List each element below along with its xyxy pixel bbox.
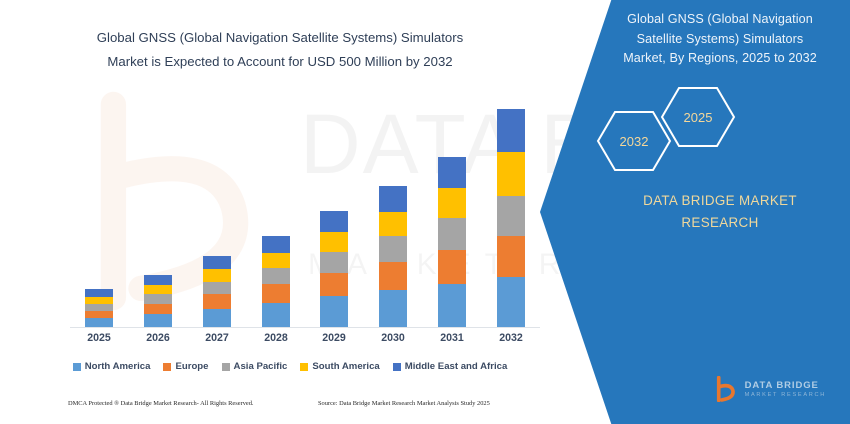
x-axis-label-2026: 2026: [136, 332, 180, 344]
bar-segment-north-america: [85, 318, 113, 327]
bar-segment-south-america: [320, 232, 348, 251]
brand-logo-tagline: MARKET RESEARCH: [745, 392, 826, 398]
legend-label: North America: [85, 361, 151, 372]
bar-segment-middle-east-and-africa: [203, 256, 231, 269]
bar-segment-middle-east-and-africa: [320, 211, 348, 232]
x-axis-label-2028: 2028: [254, 332, 298, 344]
chart-legend: North AmericaEuropeAsia PacificSouth Ame…: [40, 361, 540, 372]
footer: DMCA Protected ® Data Bridge Market Rese…: [0, 400, 600, 416]
bar-segment-asia-pacific: [85, 304, 113, 311]
legend-swatch-icon: [300, 363, 308, 371]
legend-label: South America: [312, 361, 379, 372]
hexagon-year-end: 2025: [660, 86, 736, 148]
bar-segment-north-america: [144, 314, 172, 327]
legend-item-north-america[interactable]: North America: [73, 361, 151, 372]
bar-segment-europe: [320, 273, 348, 296]
bar-segment-middle-east-and-africa: [262, 236, 290, 252]
brand-name-line1: DATA BRIDGE MARKET: [606, 190, 834, 212]
bar-segment-south-america: [203, 269, 231, 282]
bar-segment-north-america: [497, 277, 525, 327]
brand-name-line2: RESEARCH: [606, 212, 834, 234]
brand-logo-text: DATA BRIDGE MARKET RESEARCH: [745, 380, 826, 398]
bar-segment-europe: [144, 304, 172, 315]
x-axis-line: [70, 327, 540, 328]
bar-segment-north-america: [320, 296, 348, 327]
bar-segment-north-america: [203, 309, 231, 327]
bar-segment-europe: [379, 262, 407, 290]
x-axis-label-2027: 2027: [195, 332, 239, 344]
year-hexagons: 2032 2025: [590, 86, 790, 172]
panel-title-line2: Satellite Systems) Simulators: [604, 30, 836, 50]
bar-2026: [144, 275, 172, 327]
legend-label: Europe: [175, 361, 208, 372]
legend-swatch-icon: [393, 363, 401, 371]
bar-segment-asia-pacific: [144, 294, 172, 304]
bar-2028: [262, 236, 290, 327]
data-bridge-b-logo-icon: [713, 376, 739, 402]
legend-swatch-icon: [163, 363, 171, 371]
bar-segment-south-america: [144, 285, 172, 295]
page-title-line2: Market is Expected to Account for USD 50…: [30, 50, 530, 74]
legend-swatch-icon: [73, 363, 81, 371]
hexagon-year-end-label: 2025: [684, 110, 713, 125]
bar-segment-middle-east-and-africa: [144, 275, 172, 285]
legend-label: Asia Pacific: [234, 361, 288, 372]
chart-panel: DATA BRIDGE MARKET RESEARCH Global GNSS …: [0, 0, 600, 424]
bar-segment-asia-pacific: [438, 218, 466, 250]
bar-segment-asia-pacific: [379, 236, 407, 262]
footer-source: Source: Data Bridge Market Research Mark…: [318, 400, 490, 407]
hexagon-year-start-label: 2032: [620, 134, 649, 149]
bar-segment-north-america: [379, 290, 407, 327]
bar-2025: [85, 289, 113, 327]
brand-logo: DATA BRIDGE MARKET RESEARCH: [713, 376, 826, 402]
x-axis-label-2032: 2032: [489, 332, 533, 344]
panel-title-line3: Market, By Regions, 2025 to 2032: [604, 49, 836, 69]
bar-segment-south-america: [438, 188, 466, 218]
x-axis-label-2029: 2029: [312, 332, 356, 344]
bar-segment-asia-pacific: [262, 268, 290, 284]
bar-2031: [438, 157, 466, 327]
bar-segment-middle-east-and-africa: [379, 186, 407, 212]
legend-label: Middle East and Africa: [405, 361, 508, 372]
legend-item-middle-east-and-africa[interactable]: Middle East and Africa: [393, 361, 508, 372]
bar-segment-south-america: [497, 152, 525, 196]
legend-item-europe[interactable]: Europe: [163, 361, 208, 372]
bar-segment-north-america: [262, 303, 290, 327]
bar-segment-middle-east-and-africa: [85, 289, 113, 297]
x-axis-label-2025: 2025: [77, 332, 121, 344]
bar-segment-asia-pacific: [320, 252, 348, 273]
x-axis-labels: 20252026202720282029203020312032: [70, 332, 540, 348]
bar-segment-europe: [85, 311, 113, 319]
panel-title: Global GNSS (Global Navigation Satellite…: [604, 10, 836, 69]
bar-segment-europe: [497, 236, 525, 277]
x-axis-label-2030: 2030: [371, 332, 415, 344]
bar-segment-south-america: [85, 297, 113, 304]
bar-segment-north-america: [438, 284, 466, 328]
bar-segment-south-america: [379, 212, 407, 236]
bar-segment-middle-east-and-africa: [497, 109, 525, 153]
bar-2027: [203, 256, 231, 327]
panel-title-line1: Global GNSS (Global Navigation: [604, 10, 836, 30]
legend-swatch-icon: [222, 363, 230, 371]
bar-segment-europe: [203, 294, 231, 309]
page-title-line1: Global GNSS (Global Navigation Satellite…: [30, 26, 530, 50]
legend-item-south-america[interactable]: South America: [300, 361, 379, 372]
bar-segment-asia-pacific: [203, 282, 231, 295]
bar-segment-south-america: [262, 253, 290, 268]
bar-segment-europe: [438, 250, 466, 284]
brand-name: DATA BRIDGE MARKET RESEARCH: [606, 190, 834, 234]
brand-logo-name: DATA BRIDGE: [745, 380, 826, 391]
stacked-bar-chart: [70, 95, 540, 327]
bar-2032: [497, 109, 525, 327]
legend-item-asia-pacific[interactable]: Asia Pacific: [222, 361, 288, 372]
bar-segment-europe: [262, 284, 290, 302]
bar-segment-middle-east-and-africa: [438, 157, 466, 188]
bar-2029: [320, 211, 348, 327]
market-report-infographic: DATA BRIDGE MARKET RESEARCH Global GNSS …: [0, 0, 850, 424]
bar-2030: [379, 186, 407, 327]
footer-copyright: DMCA Protected ® Data Bridge Market Rese…: [68, 400, 254, 407]
page-title: Global GNSS (Global Navigation Satellite…: [30, 26, 530, 75]
x-axis-label-2031: 2031: [430, 332, 474, 344]
bar-segment-asia-pacific: [497, 196, 525, 237]
